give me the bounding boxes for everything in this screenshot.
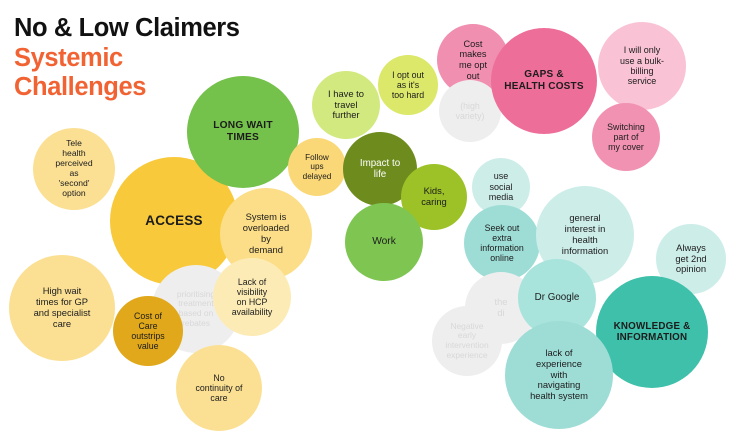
bubble-node[interactable]: lack of experience with navigating healt… [505,321,613,429]
bubble-label: Lack of visibility on HCP availability [215,277,288,318]
bubble-label: GAPS & HEALTH COSTS [494,69,594,92]
bubble-label: I will only use a bulk- billing service [601,45,684,87]
bubble-node[interactable]: Lack of visibility on HCP availability [213,258,291,336]
bubble-node[interactable]: High wait times for GP and specialist ca… [9,255,115,361]
bubble-hub[interactable]: GAPS & HEALTH COSTS [491,28,597,134]
bubble-label: Switching part of my cover [594,122,658,153]
bubble-label: Work [347,236,420,248]
bubble-label: KNOWLEDGE & INFORMATION [599,321,704,344]
title-line-primary: No & Low Claimers [14,14,240,44]
bubble-hub[interactable]: LONG WAIT TIMES [187,76,299,188]
bubble-node[interactable]: Negative early intervention experience [432,306,502,376]
bubble-label: general interest in health information [539,213,631,257]
bubble-node[interactable]: I will only use a bulk- billing service [598,22,686,110]
bubble-label: Follow ups delayed [290,153,345,182]
bubble-label: Seek out extra information online [466,223,537,264]
bubble-label: ACCESS [114,213,234,229]
bubble-node[interactable]: I opt out as it's too hard [378,55,438,115]
bubble-label: use social media [474,171,529,202]
bubble-label: (high variety) [441,101,499,121]
bubble-label: System is overloaded by demand [223,212,309,256]
bubble-label: I have to travel further [314,89,378,122]
bubble-node[interactable]: Tele health perceived as 'second' option [33,128,115,210]
bubble-label: Kids, caring [403,186,465,208]
bubble-label: Impact to life [345,158,415,181]
bubble-label: Cost of Care outstrips value [115,311,181,352]
bubble-chart-canvas: No & Low Claimers Systemic Challenges Te… [0,0,740,446]
bubble-node[interactable]: No continuity of care [176,345,262,431]
bubble-label: I opt out as it's too hard [380,70,436,101]
bubble-label: High wait times for GP and specialist ca… [12,286,112,330]
bubble-label: LONG WAIT TIMES [190,120,295,144]
bubble-node[interactable]: I have to travel further [312,71,380,139]
bubble-label: lack of experience with navigating healt… [508,348,610,403]
bubble-node[interactable]: Follow ups delayed [288,138,346,196]
bubble-label: Always get 2nd opinion [658,243,724,276]
bubble-label: Negative early intervention experience [434,322,500,361]
bubble-label: Dr Google [520,292,593,303]
title-line-secondary: Systemic [14,44,240,74]
bubble-node[interactable]: Work [345,203,423,281]
bubble-node[interactable]: Cost of Care outstrips value [113,296,183,366]
bubble-label: No continuity of care [179,373,260,404]
bubble-label: Tele health perceived as 'second' option [35,139,112,199]
bubble-node[interactable]: Switching part of my cover [592,103,660,171]
